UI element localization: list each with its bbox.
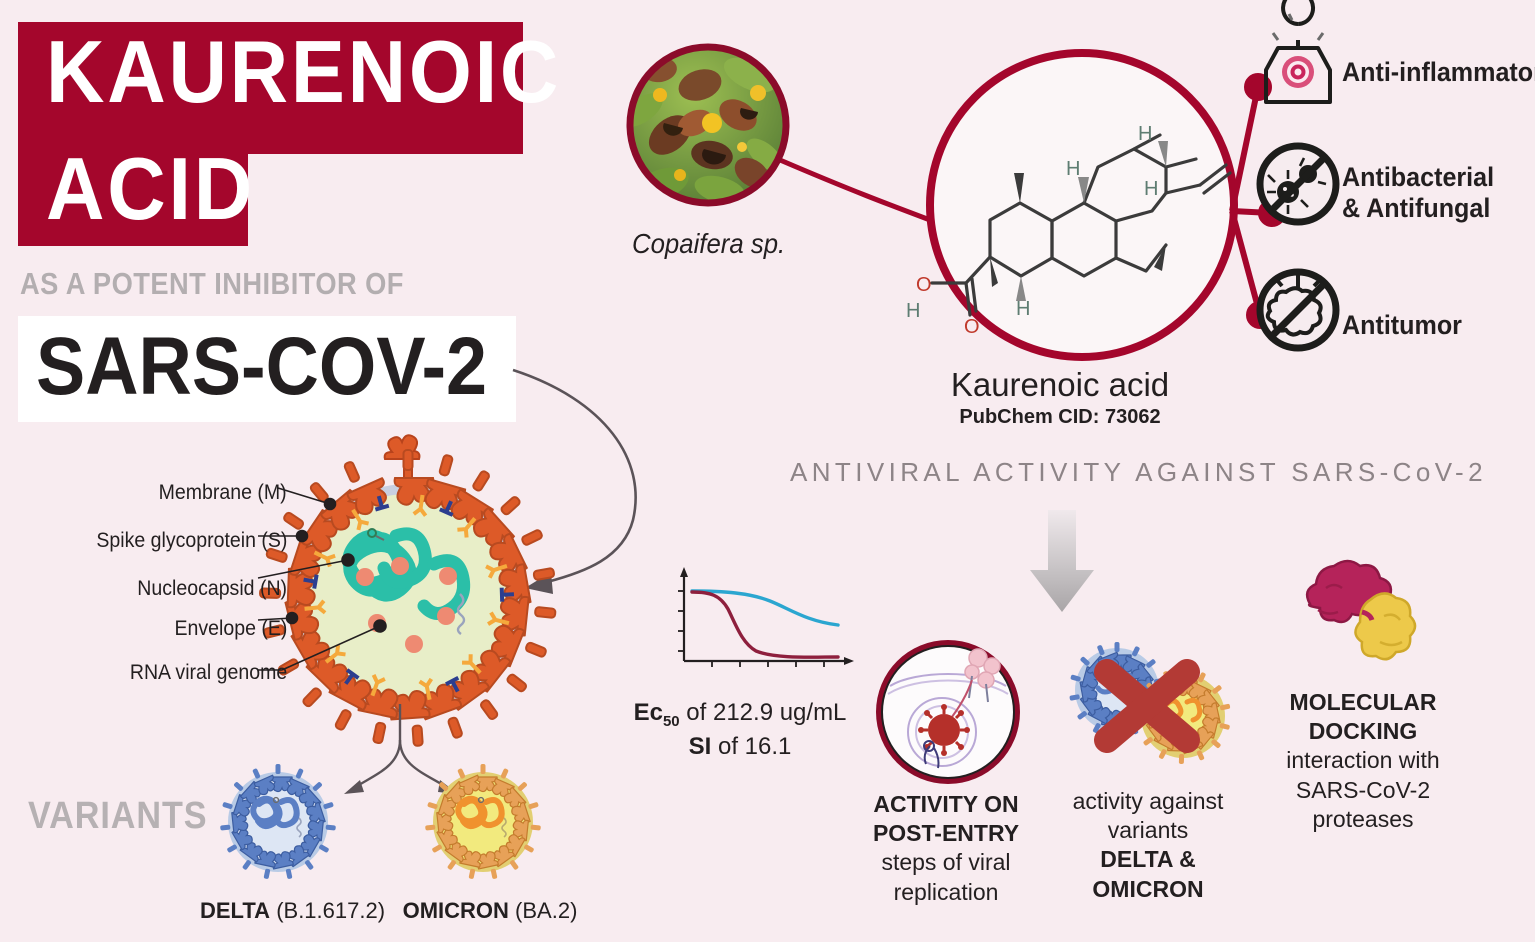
svg-text:O: O bbox=[916, 274, 932, 296]
svg-text:H: H bbox=[1016, 298, 1030, 320]
virion-label-spike: Spike glycoprotein (S) bbox=[96, 530, 287, 551]
activity-label-text-line2: & Antifungal bbox=[1342, 193, 1494, 224]
si-label: SI bbox=[689, 733, 712, 760]
result-caption-post-entry: ACTIVITY ON POST-ENTRY steps of viral re… bbox=[862, 790, 1030, 907]
result3-bold-line1: MOLECULAR DOCKING bbox=[1290, 689, 1437, 744]
result-caption-docking: MOLECULAR DOCKING interaction with SARS-… bbox=[1258, 688, 1468, 834]
dose-response-curve-chart bbox=[672, 565, 862, 685]
plant-caption: Copaifera sp. bbox=[632, 228, 785, 260]
virion-label-membrane: Membrane (M) bbox=[159, 482, 287, 503]
ec50-subscript: 50 bbox=[663, 713, 680, 730]
virion-label-envelope: Envelope (E) bbox=[174, 618, 287, 639]
cell-post-entry-icon bbox=[872, 636, 1024, 788]
page-title-line2: ACID bbox=[46, 145, 255, 233]
result3-plain-line3: proteases bbox=[1258, 805, 1468, 834]
virion-label-rna: RNA viral genome bbox=[130, 662, 287, 683]
variants-heading: VARIANTS bbox=[28, 795, 207, 838]
svg-text:H: H bbox=[1138, 123, 1152, 145]
virion-particle bbox=[918, 704, 970, 756]
spike-proteins bbox=[385, 435, 420, 482]
x-mark-over-variants-icon bbox=[1055, 630, 1245, 780]
delta-virion-icon bbox=[203, 760, 353, 890]
page-title-line1: KAURENOIC bbox=[46, 28, 561, 116]
page-title-target: SARS-COV-2 bbox=[36, 326, 487, 408]
virion-label-nucleocapsid: Nucleocapsid (N) bbox=[137, 578, 287, 599]
result-caption-variants: activity against variants DELTA & OMICRO… bbox=[1052, 787, 1244, 904]
variant-lineage-delta: (B.1.617.2) bbox=[276, 898, 385, 923]
activity-label-antibacterial: Antibacterial & Antifungal bbox=[1342, 162, 1494, 224]
result1-bold-line2: POST-ENTRY bbox=[873, 820, 1019, 846]
ec50-prefix: Ec bbox=[634, 699, 663, 726]
result1-plain-line1: steps of viral bbox=[862, 848, 1030, 877]
ec50-line: Ec50 of 212.9 ug/mL bbox=[615, 697, 865, 731]
molecule-name: Kaurenoic acid bbox=[930, 368, 1190, 401]
svg-text:H: H bbox=[906, 300, 920, 322]
activity-label-text-line1: Antibacterial bbox=[1342, 162, 1494, 193]
result2-plain-line1: activity against bbox=[1052, 787, 1244, 816]
potency-values: Ec50 of 212.9 ug/mL SI of 16.1 bbox=[615, 697, 865, 762]
down-arrow-gradient-icon bbox=[1012, 508, 1112, 620]
si-value: of 16.1 bbox=[711, 733, 791, 760]
series-viral-replication bbox=[692, 592, 838, 657]
inflammation-body-icon bbox=[1266, 0, 1330, 102]
infographic-canvas: KAURENOIC ACID AS A POTENT INHIBITOR OF … bbox=[0, 0, 1535, 942]
si-line: SI of 16.1 bbox=[615, 731, 865, 762]
activity-label-text: Antitumor bbox=[1342, 310, 1462, 340]
result2-bold-line1: DELTA & OMICRON bbox=[1092, 846, 1203, 901]
variant-label-omicron: OMICRON (BA.2) bbox=[400, 900, 580, 922]
variant-name-delta: DELTA bbox=[200, 898, 270, 923]
variant-name-omicron: OMICRON bbox=[403, 898, 509, 923]
protein-docking-icon bbox=[1288, 560, 1448, 670]
svg-text:O: O bbox=[964, 316, 980, 338]
result3-plain-line1: interaction with bbox=[1258, 746, 1468, 775]
omicron-virion-icon bbox=[408, 760, 558, 890]
copaifera-photo bbox=[615, 47, 788, 209]
variant-lineage-omicron: (BA.2) bbox=[515, 898, 577, 923]
activity-label-anti-inflammatory: Anti-inflammatory bbox=[1342, 57, 1535, 88]
svg-text:H: H bbox=[1144, 178, 1158, 200]
activity-icons-group bbox=[1252, 14, 1344, 354]
antiviral-section-header: ANTIVIRAL ACTIVITY AGAINST SARS-CoV-2 bbox=[790, 457, 1487, 488]
activity-label-antitumor: Antitumor bbox=[1342, 310, 1462, 341]
variant-label-delta: DELTA (B.1.617.2) bbox=[200, 900, 380, 922]
result2-plain-line2: variants bbox=[1052, 816, 1244, 845]
plant-to-molecule-connector bbox=[780, 160, 930, 220]
svg-text:H: H bbox=[1066, 158, 1080, 180]
ec50-value: of 212.9 ug/mL bbox=[680, 699, 847, 726]
result1-bold-line1: ACTIVITY ON bbox=[873, 791, 1018, 817]
result1-plain-line2: replication bbox=[862, 878, 1030, 907]
no-tumor-icon bbox=[1260, 272, 1336, 348]
molecule-identifier: PubChem CID: 73062 bbox=[930, 406, 1190, 429]
no-bacteria-icon bbox=[1260, 146, 1336, 222]
result3-plain-line2: SARS-CoV-2 bbox=[1258, 776, 1468, 805]
page-subtitle: AS A POTENT INHIBITOR OF bbox=[20, 268, 404, 299]
activity-label-text: Anti-inflammatory bbox=[1342, 57, 1535, 87]
